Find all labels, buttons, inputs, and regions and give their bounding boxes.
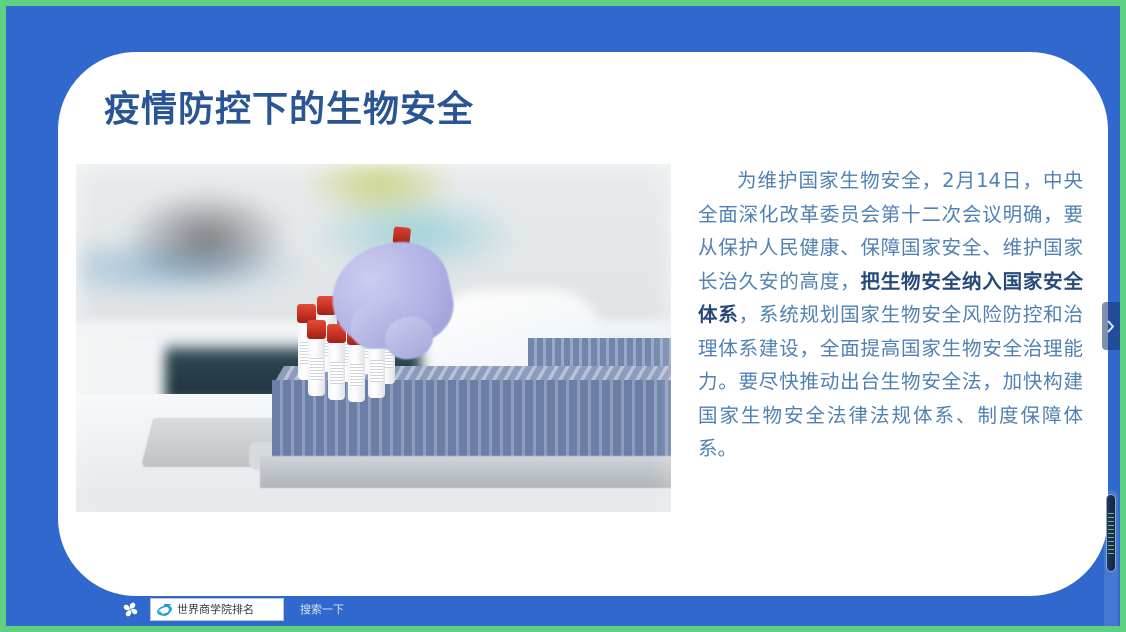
search-submit-button[interactable]: 搜索一下 bbox=[293, 598, 351, 620]
slide-body-paragraph: 为维护国家生物安全，2月14日，中央全面深化改革委员会第十二次会议明确，要从保护… bbox=[698, 164, 1083, 466]
next-slide-button[interactable] bbox=[1102, 302, 1120, 350]
lab-test-tubes-photo bbox=[76, 164, 671, 512]
taskbar-search-widget: 世界商学院排名 搜索一下 bbox=[114, 592, 357, 626]
scrollbar-thumb[interactable] bbox=[1106, 494, 1116, 572]
scrollbar-grip-lines bbox=[1108, 513, 1114, 555]
vertical-scrollbar[interactable] bbox=[1104, 490, 1118, 626]
photo-vignette bbox=[76, 164, 671, 512]
search-input[interactable]: 世界商学院排名 bbox=[150, 598, 284, 621]
baidu-pinwheel-icon bbox=[120, 599, 141, 620]
search-input-value: 世界商学院排名 bbox=[177, 601, 254, 617]
page-title: 疫情防控下的生物安全 bbox=[104, 88, 474, 129]
body-rest-text: ，系统规划国家生物安全风险防控和治理体系建设，全面提高国家生物安全治理能力。要尽… bbox=[698, 303, 1083, 460]
slide-content-card: 疫情防控下的生物安全 bbox=[58, 52, 1108, 596]
slide-stage: 疫情防控下的生物安全 bbox=[6, 6, 1120, 626]
chevron-right-icon bbox=[1107, 320, 1115, 333]
internet-explorer-icon bbox=[157, 602, 172, 617]
browser-viewport: 疫情防控下的生物安全 bbox=[0, 0, 1126, 632]
